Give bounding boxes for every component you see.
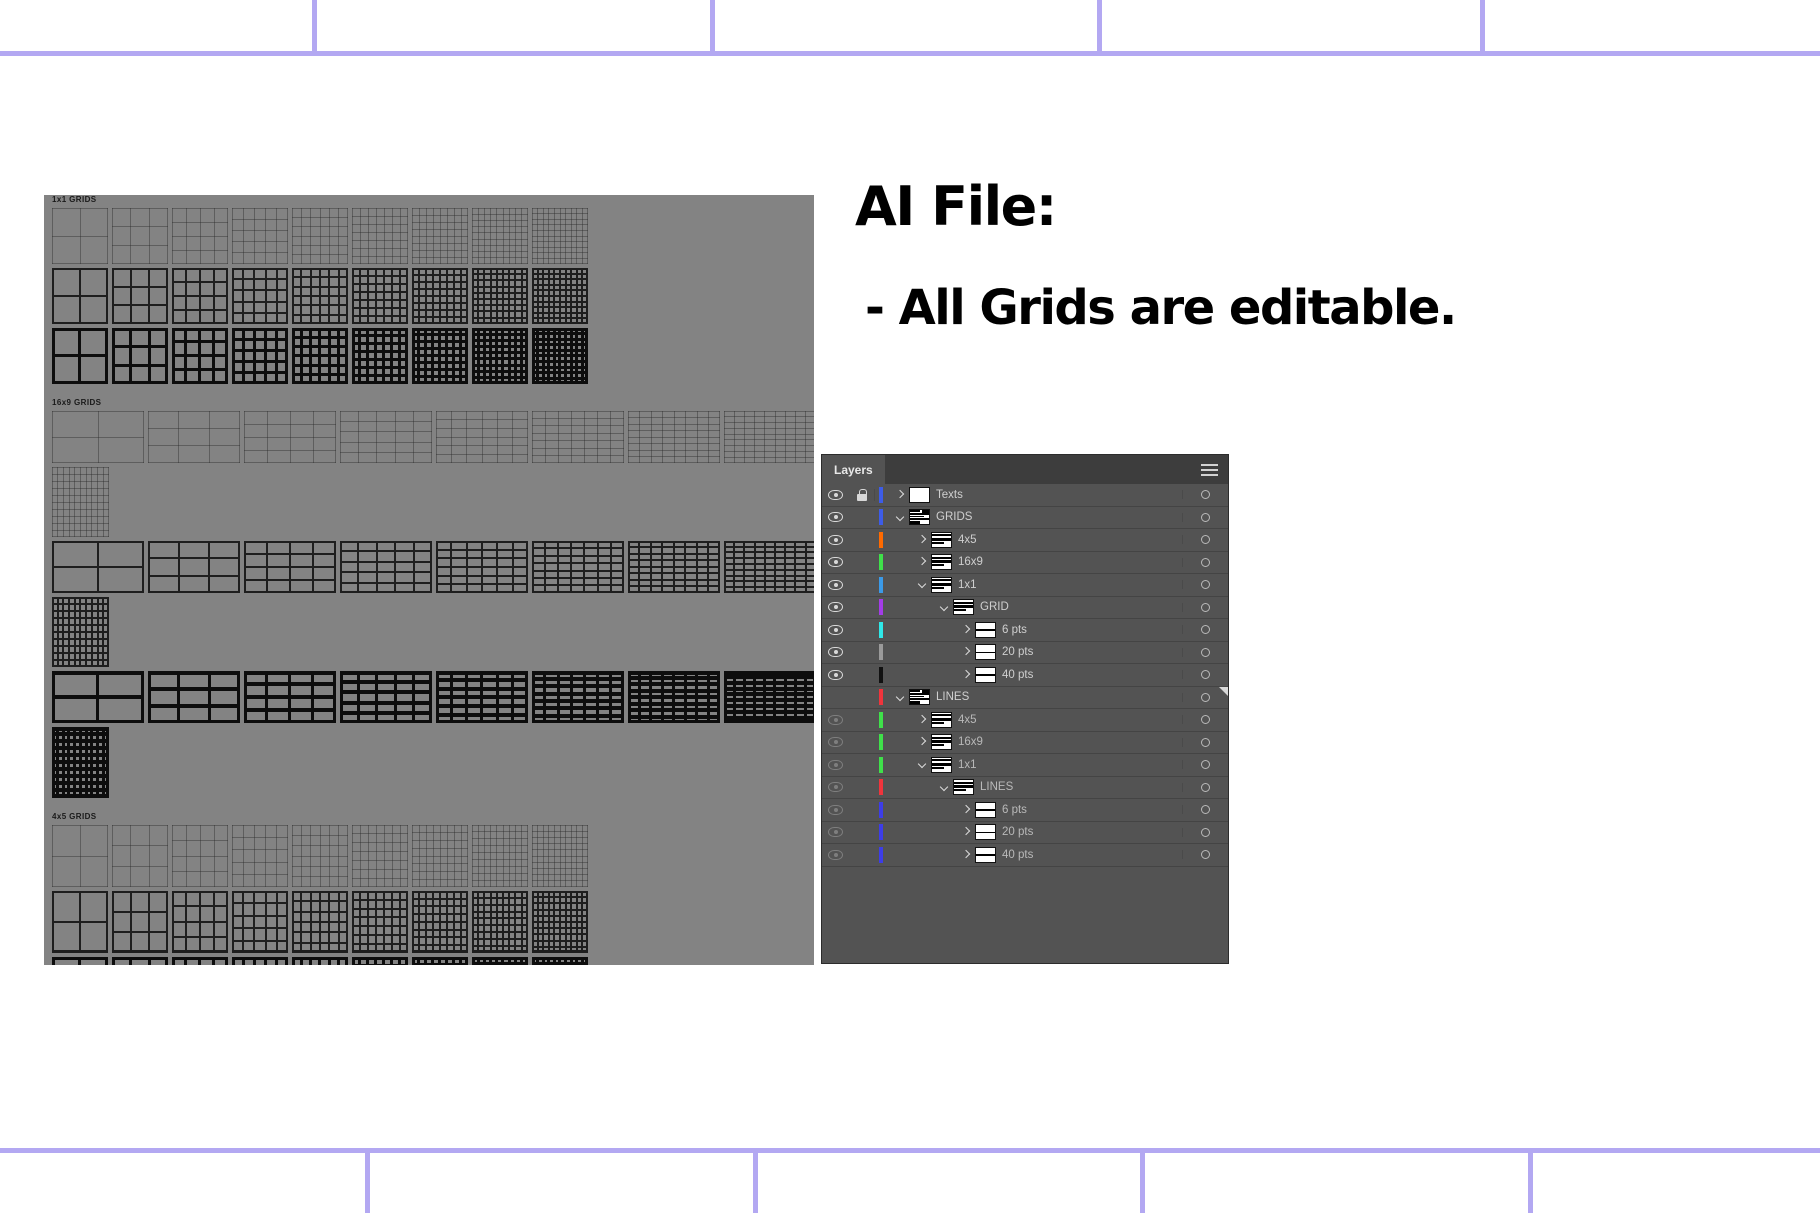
layer-body[interactable]: 1x1 (887, 577, 1182, 593)
layer-thumbnail (975, 667, 996, 683)
grid-thumbnail (628, 671, 720, 723)
layers-panel[interactable]: Layers TextsGRIDS4x516x91x1GRID6 pts20 p… (822, 455, 1228, 963)
grid-thumbnail (172, 957, 228, 965)
grid-thumbnail (52, 411, 144, 463)
layer-thumbnail (931, 757, 952, 773)
guide-vertical-top-0 (312, 0, 317, 56)
grid-thumbnail (292, 268, 348, 324)
target-circle-icon[interactable] (1182, 760, 1228, 769)
eye-icon (828, 512, 843, 522)
grid-row (52, 268, 588, 324)
eye-icon (828, 602, 843, 612)
target-ring (1201, 715, 1210, 724)
grid-thumbnail (244, 671, 336, 723)
chevron-right-icon[interactable] (959, 623, 973, 637)
visibility-toggle[interactable] (822, 647, 849, 657)
grid-thumbnail (412, 825, 468, 887)
guide-vertical-top-3 (1480, 0, 1485, 56)
layer-name: 20 pts (1002, 826, 1033, 838)
layer-thumbnail (975, 824, 996, 840)
chevron-right-icon[interactable] (959, 803, 973, 817)
target-circle-icon[interactable] (1182, 625, 1228, 634)
chevron-down-icon[interactable] (893, 510, 907, 524)
layer-name: 4x5 (958, 714, 977, 726)
visibility-toggle[interactable] (822, 490, 849, 500)
grid-row-overflow (52, 727, 109, 797)
grid-thumbnail (412, 891, 468, 953)
grid-thumbnail (532, 268, 588, 324)
grid-thumbnail (436, 411, 528, 463)
grid-thumbnail (352, 208, 408, 264)
layer-row[interactable]: 6 pts (822, 619, 1228, 642)
target-circle-icon[interactable] (1182, 715, 1228, 724)
target-ring (1201, 828, 1210, 837)
grid-thumbnail (112, 891, 168, 953)
grid-thumbnail (628, 541, 720, 593)
layer-row[interactable]: 1x1 (822, 754, 1228, 777)
target-circle-icon[interactable] (1182, 513, 1228, 522)
grid-thumbnail (292, 328, 348, 384)
target-ring (1201, 490, 1210, 499)
lock-toggle[interactable] (849, 489, 875, 501)
grid-thumbnail (112, 957, 168, 965)
grid-thumbnail (532, 957, 588, 965)
layer-name: 16x9 (958, 556, 983, 568)
layer-row[interactable]: GRID (822, 597, 1228, 620)
chevron-down-icon[interactable] (915, 758, 929, 772)
target-ring (1201, 850, 1210, 859)
grid-row (52, 541, 814, 593)
layer-body[interactable]: 20 pts (887, 824, 1182, 840)
grid-thumbnail (52, 671, 144, 723)
layer-row[interactable]: 16x9 (822, 732, 1228, 755)
layer-row[interactable]: Texts (822, 484, 1228, 507)
grid-thumbnail (292, 957, 348, 965)
grid-thumbnail (244, 541, 336, 593)
layer-name: 6 pts (1002, 804, 1027, 816)
grid-thumbnail (172, 328, 228, 384)
target-circle-icon[interactable] (1182, 558, 1228, 567)
hamburger-menu-icon[interactable] (1201, 464, 1218, 476)
grid-thumbnail (532, 671, 624, 723)
grid-row (52, 891, 588, 953)
layer-name: 4x5 (958, 534, 977, 546)
layer-name: 20 pts (1002, 646, 1033, 658)
target-circle-icon[interactable] (1182, 648, 1228, 657)
layer-body[interactable]: 40 pts (887, 847, 1182, 863)
section-label: 4x5 GRIDS (52, 812, 97, 821)
page-title: AI File: (855, 175, 1056, 238)
page-subtitle: - All Grids are editable. (865, 280, 1456, 336)
chevron-down-icon[interactable] (937, 600, 951, 614)
grid-thumbnail (412, 328, 468, 384)
layer-row[interactable]: 20 pts (822, 642, 1228, 665)
layer-body[interactable]: LINES (887, 779, 1182, 795)
layer-body[interactable]: 40 pts (887, 667, 1182, 683)
layer-color-swatch (875, 689, 887, 705)
layer-color-swatch (875, 847, 887, 863)
layer-thumbnail (953, 599, 974, 615)
grid-row-overflow (52, 467, 109, 537)
chevron-right-icon[interactable] (959, 848, 973, 862)
layer-name: GRIDS (936, 511, 972, 523)
grid-row-overflow (52, 597, 109, 667)
visibility-toggle[interactable] (822, 805, 849, 815)
grid-thumbnail (532, 891, 588, 953)
layer-row[interactable]: 20 pts (822, 822, 1228, 845)
layer-thumbnail (975, 802, 996, 818)
layer-name: 40 pts (1002, 849, 1033, 861)
chevron-right-icon[interactable] (959, 645, 973, 659)
grid-thumbnail (52, 208, 108, 264)
grid-thumbnail (352, 891, 408, 953)
visibility-toggle[interactable] (822, 850, 849, 860)
guide-vertical-bottom-1 (753, 1148, 758, 1213)
layer-thumbnail (931, 532, 952, 548)
grid-thumbnail (232, 891, 288, 953)
grid-row (52, 825, 588, 887)
target-circle-icon[interactable] (1182, 783, 1228, 792)
grid-thumbnail (472, 957, 528, 965)
layer-row[interactable]: 40 pts (822, 664, 1228, 687)
layer-name: 1x1 (958, 759, 977, 771)
layer-color-swatch (875, 509, 887, 525)
target-circle-icon[interactable] (1182, 535, 1228, 544)
grid-thumbnail (232, 268, 288, 324)
grid-thumbnail (352, 328, 408, 384)
grid-thumbnail (172, 208, 228, 264)
visibility-toggle[interactable] (822, 692, 849, 702)
grid-thumbnail (352, 825, 408, 887)
grid-thumbnail (232, 957, 288, 965)
target-ring (1201, 558, 1210, 567)
grid-thumbnail (472, 328, 528, 384)
grid-thumbnail (532, 208, 588, 264)
target-circle-icon[interactable] (1182, 805, 1228, 814)
layer-thumbnail (931, 554, 952, 570)
layer-color-swatch (875, 779, 887, 795)
grid-thumbnail (292, 825, 348, 887)
chevron-right-icon[interactable] (915, 713, 929, 727)
layer-color-swatch (875, 622, 887, 638)
visibility-toggle[interactable] (822, 557, 849, 567)
eye-icon (828, 580, 843, 590)
eye-icon (828, 535, 843, 545)
grid-thumbnail (52, 328, 108, 384)
layer-body[interactable]: 6 pts (887, 622, 1182, 638)
guide-vertical-top-1 (710, 0, 715, 56)
target-ring (1201, 670, 1210, 679)
layer-body[interactable]: 6 pts (887, 802, 1182, 818)
grid-thumbnail (112, 268, 168, 324)
grid-thumbnail (352, 957, 408, 965)
grid-thumbnail (340, 541, 432, 593)
grid-row (52, 411, 814, 463)
layer-thumbnail (909, 487, 930, 503)
grid-thumbnail (352, 268, 408, 324)
chevron-right-icon[interactable] (959, 825, 973, 839)
layer-thumbnail (975, 644, 996, 660)
visibility-toggle[interactable] (822, 715, 849, 725)
target-ring (1201, 783, 1210, 792)
tab-layers[interactable]: Layers (822, 455, 885, 484)
layer-body[interactable]: 1x1 (887, 757, 1182, 773)
grid-thumbnail (532, 541, 624, 593)
visibility-toggle[interactable] (822, 737, 849, 747)
grid-thumbnail (52, 891, 108, 953)
target-circle-icon[interactable] (1182, 738, 1228, 747)
layer-thumbnail (931, 734, 952, 750)
layer-thumbnail (975, 622, 996, 638)
layer-body[interactable]: LINES (887, 689, 1182, 705)
guide-vertical-bottom-3 (1528, 1148, 1533, 1213)
target-ring (1201, 760, 1210, 769)
visibility-toggle[interactable] (822, 760, 849, 770)
grid-row (52, 328, 588, 384)
layer-row[interactable]: 40 pts (822, 844, 1228, 867)
visibility-toggle[interactable] (822, 535, 849, 545)
layer-name: GRID (980, 601, 1009, 613)
grid-thumbnail (412, 268, 468, 324)
grid-thumbnail (472, 268, 528, 324)
eye-icon (828, 557, 843, 567)
grid-thumbnail (172, 268, 228, 324)
target-circle-icon[interactable] (1182, 828, 1228, 837)
target-circle-icon[interactable] (1182, 490, 1228, 499)
visibility-toggle[interactable] (822, 580, 849, 590)
layer-row[interactable]: GRIDS (822, 507, 1228, 530)
grid-thumbnail (472, 825, 528, 887)
selection-marker-icon (1219, 687, 1228, 696)
visibility-toggle[interactable] (822, 827, 849, 837)
grid-thumbnail (628, 411, 720, 463)
section-label: 1x1 GRIDS (52, 195, 97, 204)
layer-color-swatch (875, 644, 887, 660)
eye-icon (828, 737, 843, 747)
layer-body[interactable]: 4x5 (887, 532, 1182, 548)
layers-panel-header: Layers (822, 455, 1228, 484)
layer-color-swatch (875, 824, 887, 840)
grid-thumbnail (292, 891, 348, 953)
layer-name: 1x1 (958, 579, 977, 591)
chevron-right-icon[interactable] (893, 488, 907, 502)
grid-thumbnail (412, 957, 468, 965)
visibility-toggle[interactable] (822, 782, 849, 792)
grid-thumbnail (472, 208, 528, 264)
layer-name: LINES (936, 691, 969, 703)
grid-thumbnail (52, 541, 144, 593)
grid-thumbnail (724, 541, 814, 593)
layer-row[interactable]: 4x5 (822, 529, 1228, 552)
layer-row[interactable]: 6 pts (822, 799, 1228, 822)
grid-thumbnail (172, 825, 228, 887)
eye-icon (828, 850, 843, 860)
grid-thumbnail (232, 328, 288, 384)
grid-thumbnail (52, 957, 108, 965)
visibility-toggle[interactable] (822, 602, 849, 612)
grid-thumbnail (532, 825, 588, 887)
grid-thumbnail (52, 597, 109, 667)
grid-thumbnail (436, 671, 528, 723)
layer-color-swatch (875, 487, 887, 503)
layer-name: Texts (936, 489, 963, 501)
visibility-toggle[interactable] (822, 670, 849, 680)
chevron-right-icon[interactable] (915, 533, 929, 547)
grid-thumbnail (412, 208, 468, 264)
grid-thumbnail (724, 411, 814, 463)
layer-body[interactable]: GRID (887, 599, 1182, 615)
target-ring (1201, 535, 1210, 544)
layer-color-swatch (875, 734, 887, 750)
layers-list[interactable]: TextsGRIDS4x516x91x1GRID6 pts20 pts40 pt… (822, 484, 1228, 867)
grid-thumbnail (112, 328, 168, 384)
layer-color-swatch (875, 577, 887, 593)
target-ring (1201, 580, 1210, 589)
grid-thumbnail (232, 825, 288, 887)
grid-thumbnail (52, 825, 108, 887)
chevron-right-icon[interactable] (959, 668, 973, 682)
layer-thumbnail (909, 509, 930, 525)
layer-name: LINES (980, 781, 1013, 793)
grid-thumbnail (148, 671, 240, 723)
layer-color-swatch (875, 757, 887, 773)
layer-row[interactable]: LINES (822, 687, 1228, 710)
target-circle-icon[interactable] (1182, 670, 1228, 679)
eye-icon (828, 647, 843, 657)
layer-body[interactable]: Texts (887, 487, 1182, 503)
layer-color-swatch (875, 802, 887, 818)
lock-icon (857, 489, 867, 501)
grid-thumbnail (52, 727, 109, 797)
layer-body[interactable]: 16x9 (887, 554, 1182, 570)
target-ring (1201, 738, 1210, 747)
layer-color-swatch (875, 712, 887, 728)
target-circle-icon[interactable] (1182, 850, 1228, 859)
layer-body[interactable]: 4x5 (887, 712, 1182, 728)
artboard-preview[interactable]: 1x1 GRIDS16x9 GRIDS4x5 GRIDS (44, 195, 814, 965)
eye-icon (828, 715, 843, 725)
grid-thumbnail (112, 825, 168, 887)
layer-color-swatch (875, 667, 887, 683)
eye-icon (828, 670, 843, 680)
grid-row (52, 671, 814, 723)
grid-thumbnail (148, 541, 240, 593)
layer-row[interactable]: 4x5 (822, 709, 1228, 732)
layer-color-swatch (875, 554, 887, 570)
layer-row[interactable]: 16x9 (822, 552, 1228, 575)
grid-thumbnail (172, 891, 228, 953)
target-ring (1201, 603, 1210, 612)
target-ring (1201, 693, 1210, 702)
grid-thumbnail (52, 467, 109, 537)
chevron-right-icon[interactable] (915, 555, 929, 569)
grid-thumbnail (112, 208, 168, 264)
target-ring (1201, 648, 1210, 657)
eye-icon (828, 490, 843, 500)
chevron-down-icon[interactable] (937, 780, 951, 794)
layer-row[interactable]: 1x1 (822, 574, 1228, 597)
layer-body[interactable]: 16x9 (887, 734, 1182, 750)
grid-thumbnail (244, 411, 336, 463)
grid-thumbnail (340, 411, 432, 463)
layer-thumbnail (953, 779, 974, 795)
section-label: 16x9 GRIDS (52, 398, 101, 407)
grid-thumbnail (340, 671, 432, 723)
eye-icon (828, 625, 843, 635)
visibility-toggle[interactable] (822, 625, 849, 635)
layer-thumbnail (931, 577, 952, 593)
layer-thumbnail (931, 712, 952, 728)
grid-thumbnail (532, 328, 588, 384)
target-ring (1201, 625, 1210, 634)
target-ring (1201, 805, 1210, 814)
eye-icon (828, 760, 843, 770)
visibility-toggle[interactable] (822, 512, 849, 522)
grid-row (52, 208, 588, 264)
grid-thumbnail (532, 411, 624, 463)
guide-vertical-bottom-2 (1140, 1148, 1145, 1213)
layer-body[interactable]: GRIDS (887, 509, 1182, 525)
target-circle-icon[interactable] (1182, 580, 1228, 589)
guide-vertical-bottom-0 (365, 1148, 370, 1213)
eye-icon (828, 827, 843, 837)
layer-color-swatch (875, 599, 887, 615)
chevron-down-icon[interactable] (915, 578, 929, 592)
layer-thumbnail (975, 847, 996, 863)
grid-thumbnail (52, 268, 108, 324)
layer-color-swatch (875, 532, 887, 548)
grid-thumbnail (232, 208, 288, 264)
layer-thumbnail (909, 689, 930, 705)
eye-icon (828, 805, 843, 815)
chevron-down-icon[interactable] (893, 690, 907, 704)
target-circle-icon[interactable] (1182, 603, 1228, 612)
guide-horizontal-bottom (0, 1148, 1820, 1153)
guide-horizontal-top (0, 51, 1820, 56)
grid-thumbnail (724, 671, 814, 723)
layer-name: 6 pts (1002, 624, 1027, 636)
layer-body[interactable]: 20 pts (887, 644, 1182, 660)
layer-row[interactable]: LINES (822, 777, 1228, 800)
grid-thumbnail (472, 891, 528, 953)
grid-thumbnail (436, 541, 528, 593)
layer-name: 16x9 (958, 736, 983, 748)
target-ring (1201, 513, 1210, 522)
grid-thumbnail (148, 411, 240, 463)
eye-icon (828, 782, 843, 792)
grid-row (52, 957, 588, 965)
guide-vertical-top-2 (1097, 0, 1102, 56)
grid-thumbnail (292, 208, 348, 264)
chevron-right-icon[interactable] (915, 735, 929, 749)
layer-name: 40 pts (1002, 669, 1033, 681)
